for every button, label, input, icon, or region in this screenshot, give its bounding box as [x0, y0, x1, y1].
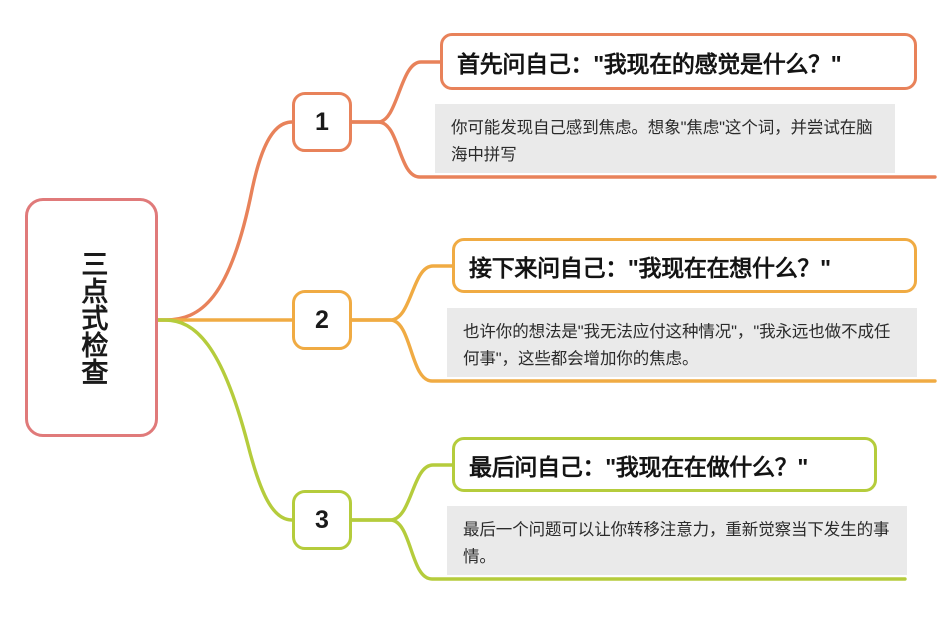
branch-title-box-1[interactable]: 首先问自己："我现在的感觉是什么？" [440, 33, 917, 90]
branch-title-label-2: 接下来问自己："我现在在想什么？" [469, 249, 831, 283]
branch-description-box-3: 最后一个问题可以让你转移注意力，重新觉察当下发生的事情。 [447, 506, 907, 575]
mindmap-canvas: 三点式检查 1 首先问自己："我现在的感觉是什么？" 你可能发现自己感到焦虑。想… [0, 0, 950, 622]
branch-title-label-1: 首先问自己："我现在的感觉是什么？" [457, 45, 841, 79]
branch-title-box-2[interactable]: 接下来问自己："我现在在想什么？" [452, 238, 917, 293]
branch-description-text-3: 最后一个问题可以让你转移注意力，重新觉察当下发生的事情。 [463, 521, 889, 566]
branch-number-node-3[interactable]: 3 [292, 490, 352, 550]
branch-title-label-3: 最后问自己："我现在在做什么？" [469, 448, 808, 482]
branch-title-box-3[interactable]: 最后问自己："我现在在做什么？" [452, 437, 877, 492]
connector-node-1-fork-top [352, 62, 440, 122]
root-node[interactable]: 三点式检查 [25, 198, 158, 437]
branch-number-node-2[interactable]: 2 [292, 290, 352, 350]
connector-node-3-fork-top [352, 465, 452, 520]
root-node-label: 三点式检查 [73, 250, 111, 385]
branch-number-label-2: 2 [315, 306, 329, 335]
branch-description-box-2: 也许你的想法是"我无法应付这种情况"，"我永远也做不成任何事"，这些都会增加你的… [447, 308, 917, 377]
branch-number-node-1[interactable]: 1 [292, 92, 352, 152]
connector-root-to-node-3 [158, 320, 292, 520]
branch-number-label-3: 3 [315, 506, 329, 535]
branch-number-label-1: 1 [315, 108, 329, 137]
branch-description-box-1: 你可能发现自己感到焦虑。想象"焦虑"这个词，并尝试在脑海中拼写 [435, 104, 895, 173]
branch-description-text-2: 也许你的想法是"我无法应付这种情况"，"我永远也做不成任何事"，这些都会增加你的… [463, 323, 890, 368]
connector-node-2-fork-top [352, 266, 452, 320]
branch-description-text-1: 你可能发现自己感到焦虑。想象"焦虑"这个词，并尝试在脑海中拼写 [451, 119, 873, 164]
connector-root-to-node-1 [158, 122, 292, 320]
